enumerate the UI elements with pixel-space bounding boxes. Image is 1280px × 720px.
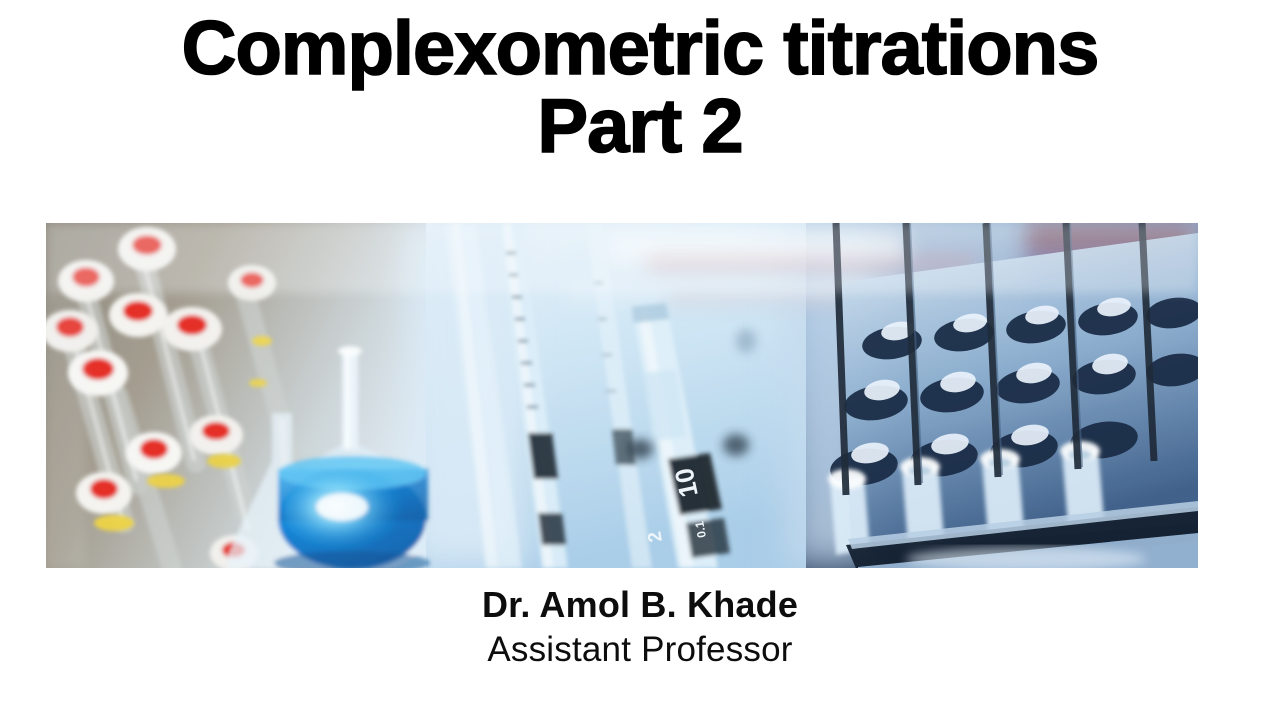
lab-photo-illustration: 10 0.1 2 [46,223,1198,568]
presentation-slide: Complexometric titrations Part 2 [0,0,1280,720]
presenter-block: Dr. Amol B. Khade Assistant Professor [0,583,1280,673]
slide-title: Complexometric titrations Part 2 [0,10,1280,166]
hero-lab-photo: 10 0.1 2 [46,223,1198,568]
title-line-1: Complexometric titrations [0,10,1280,88]
presenter-name: Dr. Amol B. Khade [0,583,1280,627]
presenter-role: Assistant Professor [0,627,1280,673]
title-line-2: Part 2 [0,88,1280,166]
